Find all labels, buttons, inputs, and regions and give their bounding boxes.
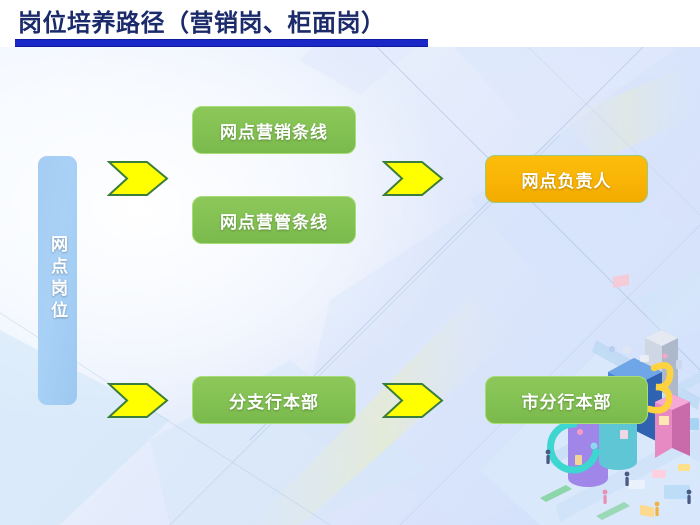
node-mgmt-line[interactable]: 网点营管条线 <box>192 196 356 244</box>
title-underline <box>15 39 428 47</box>
arrow-lines-to-leader <box>382 160 444 197</box>
node-city-branch-hq[interactable]: 市分行本部 <box>485 376 648 424</box>
background-decorations <box>0 0 700 525</box>
node-sub-branch-hq-label: 分支行本部 <box>229 388 319 413</box>
node-sales-line[interactable]: 网点营销条线 <box>192 106 356 154</box>
node-sales-line-label: 网点营销条线 <box>220 118 328 143</box>
node-branch-leader-label: 网点负责人 <box>522 167 612 192</box>
arrow-source-to-lines <box>107 160 169 197</box>
node-branch-position-label: 网点岗位 <box>48 235 67 323</box>
node-city-branch-hq-label: 市分行本部 <box>522 388 612 413</box>
arrow-subbranch-to-city <box>382 382 444 419</box>
node-mgmt-line-label: 网点营管条线 <box>220 208 328 233</box>
node-sub-branch-hq[interactable]: 分支行本部 <box>192 376 356 424</box>
node-branch-position[interactable]: 网点岗位 <box>38 156 77 405</box>
page-title: 岗位培养路径（营销岗、柜面岗） <box>18 3 386 38</box>
slide-canvas: 岗位培养路径（营销岗、柜面岗） 网点岗位 网点营销条线 网点营管条线 分支行本部… <box>0 0 700 525</box>
arrow-source-to-subbranch <box>107 382 169 419</box>
node-branch-leader[interactable]: 网点负责人 <box>485 155 648 203</box>
